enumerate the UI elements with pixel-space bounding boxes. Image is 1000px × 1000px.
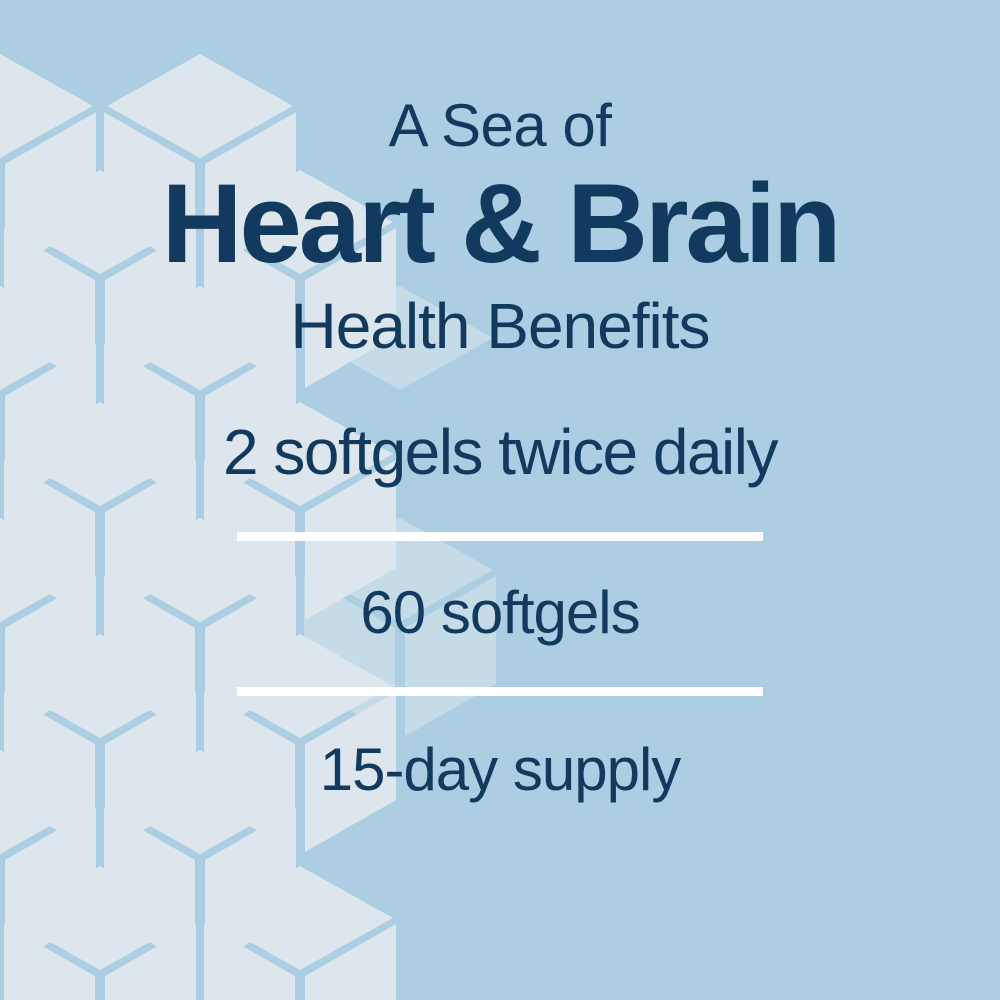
subhead-text: Health Benefits: [0, 294, 1000, 358]
softgel-count-text: 60 softgels: [0, 583, 1000, 643]
eyebrow-text: A Sea of: [0, 96, 1000, 156]
panel-content: A Sea of Heart & Brain Health Benefits 2…: [0, 0, 1000, 1000]
product-benefit-panel: A Sea of Heart & Brain Health Benefits 2…: [0, 0, 1000, 1000]
divider-bottom: [237, 687, 763, 696]
supply-duration-text: 15-day supply: [0, 740, 1000, 800]
dosage-text: 2 softgels twice daily: [0, 420, 1000, 484]
page-title: Heart & Brain: [0, 168, 1000, 280]
divider-top: [237, 532, 763, 541]
